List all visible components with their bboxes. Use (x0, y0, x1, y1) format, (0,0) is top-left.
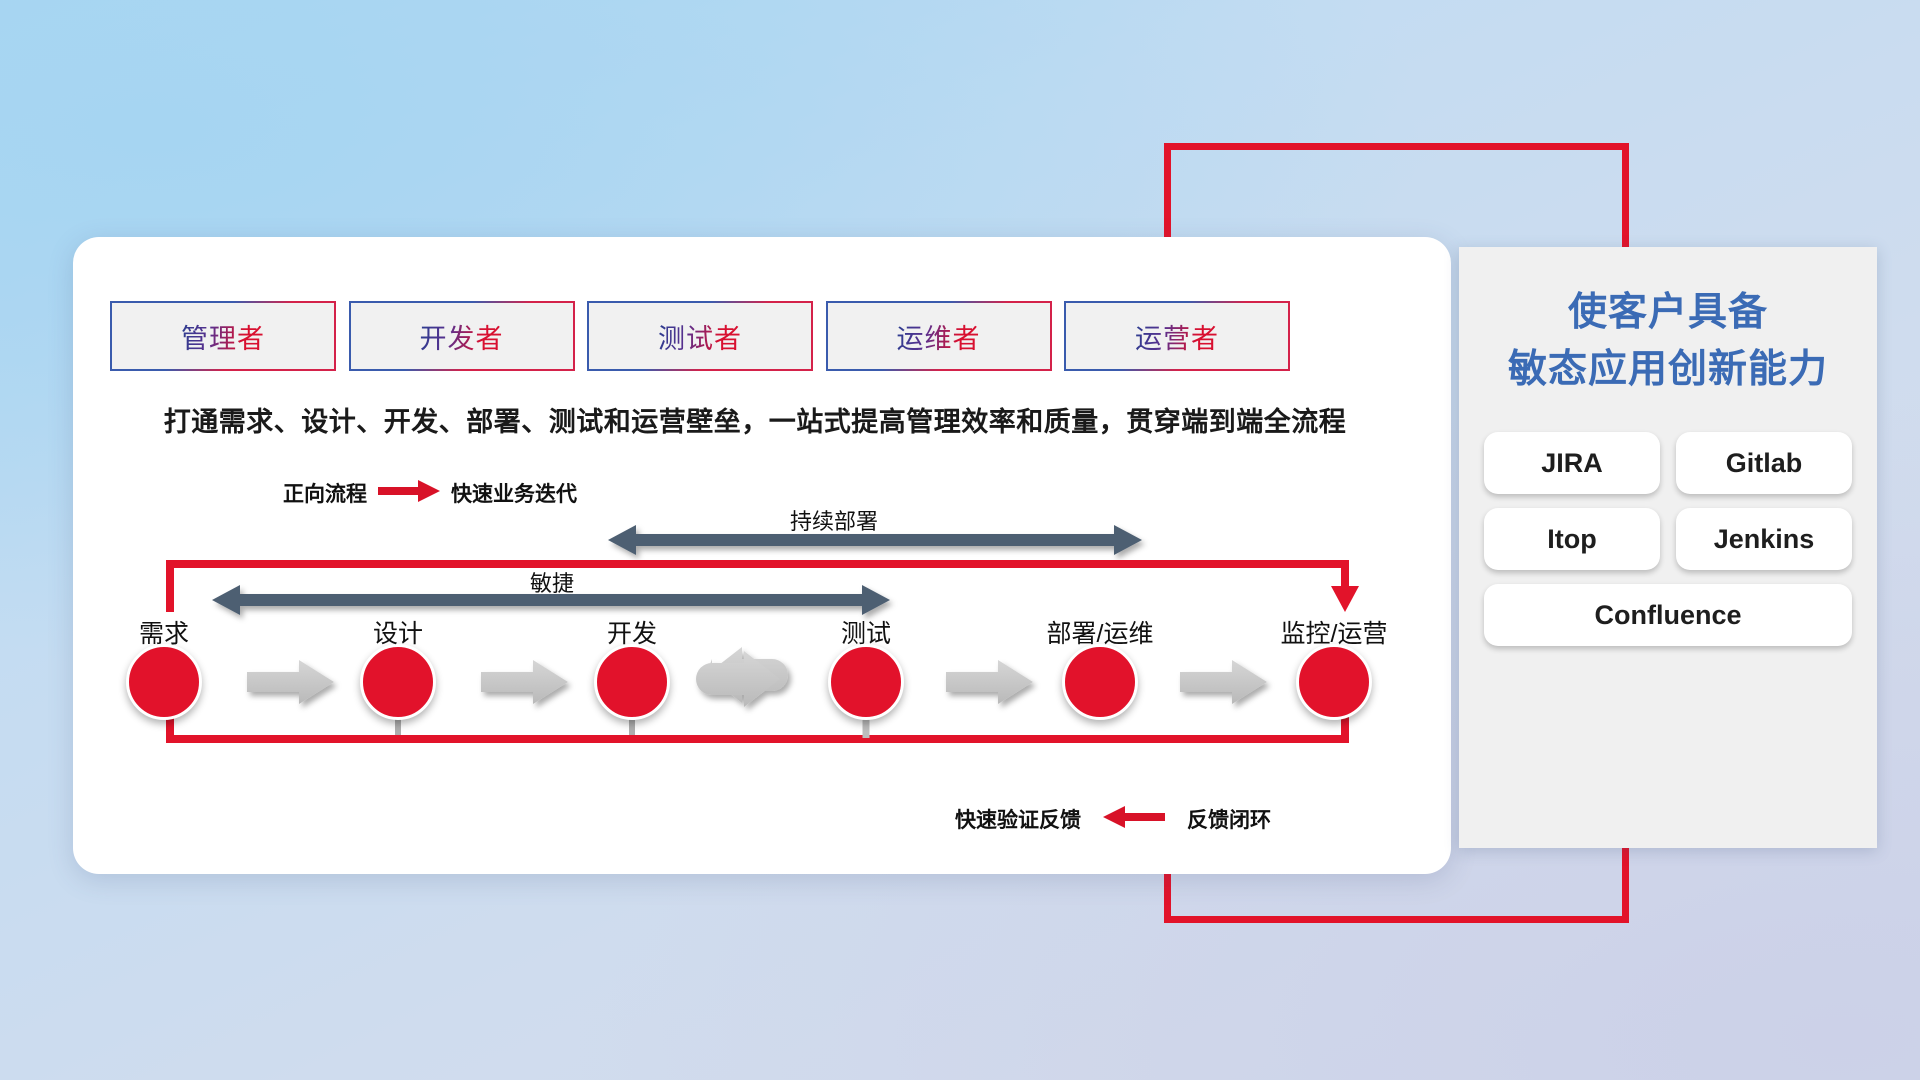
legend-forward-right-label: 快速业务迭代 (451, 478, 577, 508)
role-box-developer[interactable]: 开发者 (349, 301, 575, 371)
role-box-manager[interactable]: 管理者 (110, 301, 336, 371)
role-box-ops[interactable]: 运维者 (826, 301, 1052, 371)
pipeline-node-label: 部署/运维 (1047, 614, 1154, 650)
tool-chip-jenkins[interactable]: Jenkins (1676, 508, 1852, 570)
pipeline-node-design[interactable] (360, 644, 436, 720)
pipeline-node-label: 设计 (373, 614, 423, 650)
pipeline-node-requirement[interactable] (126, 644, 202, 720)
outer-frame-top (1164, 143, 1629, 150)
role-box-row: 管理者 开发者 测试者 运维者 运营者 (110, 301, 1290, 371)
role-box-tester[interactable]: 测试者 (587, 301, 813, 371)
pipeline-node-monitor-operations[interactable] (1296, 644, 1372, 720)
capability-panel: 使客户具备 敏态应用创新能力 JIRA Gitlab Itop Jenkins … (1459, 247, 1877, 848)
pipeline-node-deploy-ops[interactable] (1062, 644, 1138, 720)
outer-frame-bottom (1164, 916, 1629, 923)
pipeline-node-label: 监控/运营 (1281, 614, 1388, 650)
panel-title-line2: 敏态应用创新能力 (1459, 342, 1877, 399)
role-label: 运营者 (1135, 317, 1219, 356)
right-arrow-icon (378, 480, 440, 507)
pipeline-node-development[interactable] (594, 644, 670, 720)
legend-feedback-left-label: 快速验证反馈 (955, 804, 1081, 834)
legend-forward-left-label: 正向流程 (283, 478, 367, 508)
left-arrow-icon (1103, 806, 1165, 833)
legend-forward-flow: 正向流程 快速业务迭代 (283, 476, 577, 510)
pipeline-node-label: 需求 (139, 614, 189, 650)
panel-title-line1: 使客户具备 (1459, 285, 1877, 342)
tool-chip-confluence[interactable]: Confluence (1484, 584, 1852, 646)
band-label-agile: 敏捷 (530, 566, 574, 598)
band-label-continuous-deployment: 持续部署 (790, 504, 878, 536)
pipeline-node-label: 测试 (841, 614, 891, 650)
legend-feedback-right-label: 反馈闭环 (1187, 804, 1271, 834)
role-label: 测试者 (658, 317, 742, 356)
role-box-operations[interactable]: 运营者 (1064, 301, 1290, 371)
tool-list: JIRA Gitlab Itop Jenkins Confluence (1459, 432, 1877, 646)
panel-title: 使客户具备 敏态应用创新能力 (1459, 285, 1877, 398)
headline-text: 打通需求、设计、开发、部署、测试和运营壁垒，一站式提高管理效率和质量，贯穿端到端… (110, 400, 1400, 439)
tool-chip-jira[interactable]: JIRA (1484, 432, 1660, 494)
role-label: 运维者 (897, 317, 981, 356)
pipeline-node-label: 开发 (607, 614, 657, 650)
pipeline-node-test[interactable] (828, 644, 904, 720)
role-label: 开发者 (420, 317, 504, 356)
role-label: 管理者 (181, 317, 265, 356)
tool-chip-itop[interactable]: Itop (1484, 508, 1660, 570)
tool-chip-gitlab[interactable]: Gitlab (1676, 432, 1852, 494)
slide-canvas: 管理者 开发者 测试者 运维者 运营者 打通需求、设计、开发、部署、测试和运营壁… (0, 0, 1920, 1080)
legend-feedback-loop: 快速验证反馈 反馈闭环 (955, 802, 1271, 836)
